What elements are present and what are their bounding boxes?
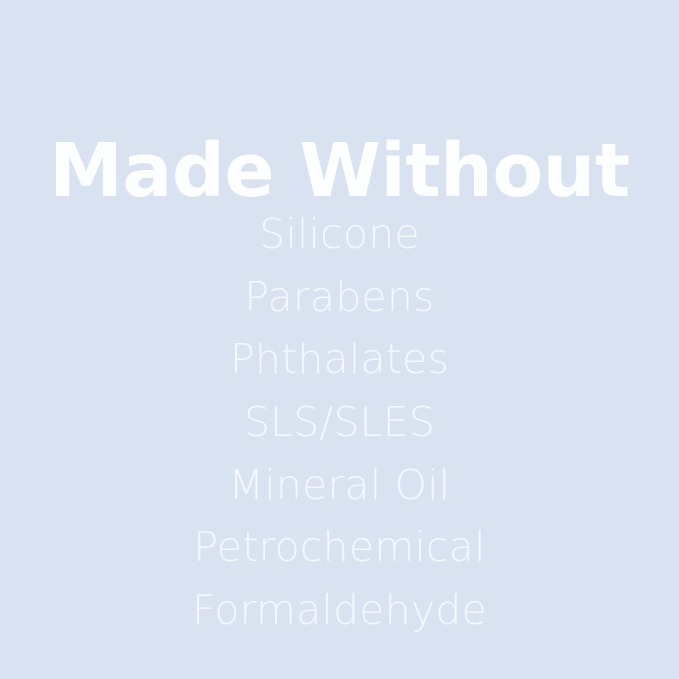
list-item: Parabens xyxy=(0,266,679,329)
made-without-poster: Made Without Silicone Parabens Phthalate… xyxy=(0,0,679,679)
list-item: Phthalates xyxy=(0,328,679,391)
list-item: SLS/SLES xyxy=(0,391,679,454)
excluded-ingredients-list: Silicone Parabens Phthalates SLS/SLES Mi… xyxy=(0,203,679,642)
list-item: Silicone xyxy=(0,203,679,266)
page-title: Made Without xyxy=(0,134,679,208)
list-item: Formaldehyde xyxy=(0,579,679,642)
list-item: Petrochemical xyxy=(0,516,679,579)
list-item: Mineral Oil xyxy=(0,454,679,517)
